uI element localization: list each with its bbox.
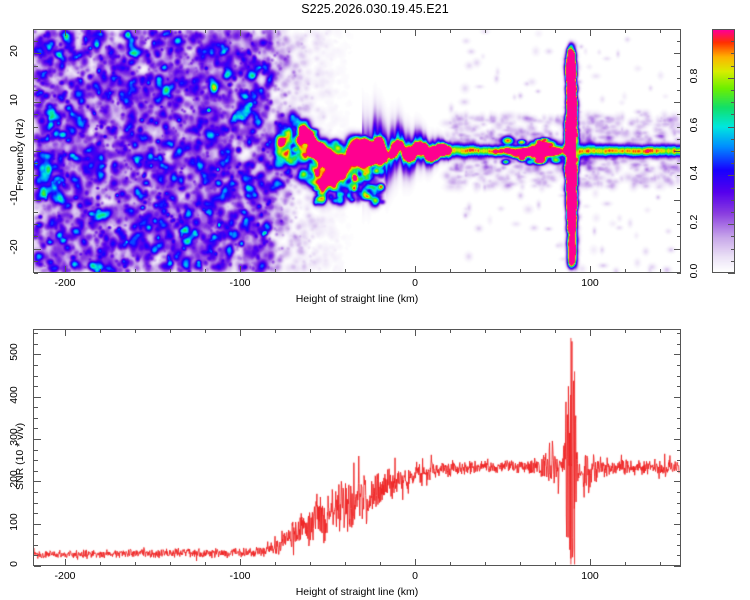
axis-tick [677, 555, 681, 556]
axis-tick [275, 562, 276, 566]
axis-tick [205, 29, 206, 33]
axis-tick [677, 224, 681, 225]
axis-tick [677, 513, 681, 514]
colorbar-tick [728, 175, 735, 176]
axis-tick [677, 376, 681, 377]
axis-tick [677, 212, 681, 213]
axis-tick [677, 471, 681, 472]
axis-tick [34, 78, 38, 79]
axis-tick [205, 329, 206, 333]
axis-tick [34, 175, 38, 176]
axis-tick [677, 236, 681, 237]
axis-tick [625, 329, 626, 333]
axis-tick [555, 329, 556, 333]
colorbar-tick [731, 151, 735, 152]
axis-tick [275, 29, 276, 33]
axis-tick [485, 562, 486, 566]
axis-tick [677, 114, 681, 115]
axis-tick [520, 29, 521, 33]
axis-tick [34, 212, 38, 213]
axis-tick [677, 273, 681, 274]
axis-tick [34, 127, 38, 128]
axis-tick [677, 175, 681, 176]
axis-tick [485, 269, 486, 273]
x-tick-label: 100 [576, 277, 604, 289]
axis-tick [170, 269, 171, 273]
axis-tick [450, 329, 451, 333]
page-title: S225.2026.030.19.45.E21 [0, 2, 750, 16]
axis-tick [34, 66, 38, 67]
colorbar-tick [731, 200, 735, 201]
axis-tick [415, 329, 416, 336]
x-tick-label: -100 [226, 570, 254, 582]
axis-tick [240, 329, 241, 336]
axis-tick [34, 524, 41, 525]
axis-tick [34, 41, 38, 42]
axis-tick [135, 329, 136, 333]
axis-tick [677, 127, 681, 128]
axis-tick [65, 559, 66, 566]
axis-tick [34, 450, 38, 451]
x-tick-label: 100 [576, 570, 604, 582]
axis-tick [34, 503, 38, 504]
snr-x-axis-label: Height of straight line (km) [287, 586, 427, 598]
axis-tick [380, 562, 381, 566]
axis-tick [450, 29, 451, 33]
axis-tick [34, 333, 38, 334]
axis-tick [100, 29, 101, 33]
axis-tick [674, 53, 681, 54]
axis-tick [34, 365, 38, 366]
axis-tick [34, 397, 41, 398]
axis-tick [677, 66, 681, 67]
x-tick-label: -200 [51, 570, 79, 582]
axis-tick [674, 566, 681, 567]
axis-tick [677, 344, 681, 345]
colorbar-tick [728, 224, 735, 225]
axis-tick [660, 29, 661, 33]
axis-tick [34, 460, 38, 461]
axis-tick [170, 29, 171, 33]
axis-tick [34, 555, 38, 556]
axis-tick [590, 266, 591, 273]
axis-tick [660, 562, 661, 566]
axis-tick [34, 261, 38, 262]
snr-y-axis-label: SNR (10 * v/v) [14, 422, 26, 489]
axis-tick [677, 41, 681, 42]
colorbar-tick [731, 53, 735, 54]
axis-tick [677, 386, 681, 387]
spectrogram-x-axis-label: Height of straight line (km) [287, 293, 427, 305]
colorbar-tick-label: 0.0 [688, 257, 700, 285]
colorbar-tick-label: 0.2 [688, 208, 700, 236]
axis-tick [677, 188, 681, 189]
axis-tick [34, 545, 38, 546]
colorbar-tick [731, 261, 735, 262]
axis-tick [135, 29, 136, 33]
axis-tick [345, 329, 346, 333]
axis-tick [415, 29, 416, 36]
axis-tick [100, 562, 101, 566]
axis-tick [590, 559, 591, 566]
colorbar-tick-label: 0.6 [688, 111, 700, 139]
colorbar-tick [728, 78, 735, 79]
figure-root: S225.2026.030.19.45.E21 -200-1000100-20-… [0, 0, 750, 600]
axis-tick [310, 269, 311, 273]
axis-tick [380, 269, 381, 273]
axis-tick [520, 269, 521, 273]
axis-tick [674, 397, 681, 398]
axis-tick [485, 329, 486, 333]
colorbar-tick [731, 163, 735, 164]
axis-tick [520, 562, 521, 566]
axis-tick [170, 329, 171, 333]
axis-tick [450, 562, 451, 566]
colorbar-tick [731, 139, 735, 140]
axis-tick [677, 261, 681, 262]
y-tick-label: 500 [8, 337, 20, 367]
axis-tick [660, 269, 661, 273]
colorbar-tick [731, 212, 735, 213]
axis-tick [275, 329, 276, 333]
axis-tick [34, 249, 41, 250]
axis-tick [625, 269, 626, 273]
axis-tick [34, 566, 41, 567]
axis-tick [677, 365, 681, 366]
axis-tick [34, 188, 38, 189]
axis-tick [34, 418, 38, 419]
axis-tick [310, 29, 311, 33]
colorbar-tick [731, 102, 735, 103]
axis-tick [34, 534, 38, 535]
axis-tick [170, 562, 171, 566]
axis-tick [34, 439, 41, 440]
axis-tick [34, 236, 38, 237]
axis-tick [674, 524, 681, 525]
y-tick-label: 100 [8, 507, 20, 537]
axis-tick [677, 333, 681, 334]
y-tick-label: 0 [8, 549, 20, 579]
axis-tick [34, 102, 41, 103]
x-tick-label: 0 [401, 277, 429, 289]
axis-tick [34, 428, 38, 429]
axis-tick [34, 53, 41, 54]
axis-tick [677, 492, 681, 493]
y-tick-label: -20 [8, 232, 20, 262]
axis-tick [677, 460, 681, 461]
axis-tick [34, 513, 38, 514]
axis-tick [135, 269, 136, 273]
colorbar-tick [731, 188, 735, 189]
colorbar-tick-label: 0.4 [688, 159, 700, 187]
x-tick-label: -200 [51, 277, 79, 289]
axis-tick [34, 344, 38, 345]
axis-tick [34, 90, 38, 91]
y-tick-label: 10 [8, 85, 20, 115]
axis-tick [34, 481, 41, 482]
axis-tick [310, 562, 311, 566]
axis-tick [674, 249, 681, 250]
axis-tick [555, 269, 556, 273]
axis-tick [310, 329, 311, 333]
axis-tick [674, 151, 681, 152]
axis-tick [34, 139, 38, 140]
spectrogram-canvas [34, 30, 680, 272]
axis-tick [625, 562, 626, 566]
axis-tick [34, 407, 38, 408]
axis-tick [345, 29, 346, 33]
axis-tick [677, 534, 681, 535]
axis-tick [625, 29, 626, 33]
axis-tick [34, 114, 38, 115]
axis-tick [674, 200, 681, 201]
axis-tick [674, 439, 681, 440]
axis-tick [34, 376, 38, 377]
axis-tick [34, 273, 38, 274]
colorbar-tick [731, 90, 735, 91]
colorbar-tick [728, 127, 735, 128]
snr-plot-frame [33, 329, 681, 566]
axis-tick [485, 29, 486, 33]
axis-tick [34, 354, 41, 355]
axis-tick [677, 450, 681, 451]
axis-tick [660, 329, 661, 333]
axis-tick [65, 266, 66, 273]
axis-tick [205, 562, 206, 566]
axis-tick [677, 428, 681, 429]
axis-tick [240, 559, 241, 566]
axis-tick [34, 151, 41, 152]
axis-tick [555, 562, 556, 566]
colorbar-tick [731, 66, 735, 67]
colorbar-tick [731, 114, 735, 115]
axis-tick [34, 29, 38, 30]
colorbar-tick [731, 41, 735, 42]
axis-tick [677, 503, 681, 504]
axis-tick [415, 266, 416, 273]
axis-tick [100, 329, 101, 333]
axis-tick [34, 386, 38, 387]
axis-tick [590, 29, 591, 36]
axis-tick [135, 562, 136, 566]
axis-tick [205, 269, 206, 273]
axis-tick [34, 471, 38, 472]
colorbar-tick [731, 29, 735, 30]
snr-canvas [34, 330, 680, 565]
axis-tick [677, 418, 681, 419]
axis-tick [677, 407, 681, 408]
axis-tick [677, 139, 681, 140]
axis-tick [674, 354, 681, 355]
axis-tick [415, 559, 416, 566]
colorbar-tick-label: 0.8 [688, 62, 700, 90]
x-tick-label: 0 [401, 570, 429, 582]
axis-tick [590, 329, 591, 336]
y-tick-label: 400 [8, 380, 20, 410]
axis-tick [674, 481, 681, 482]
axis-tick [345, 562, 346, 566]
axis-tick [450, 269, 451, 273]
spectrogram-y-axis-label: Frequency (Hz) [14, 119, 26, 191]
axis-tick [100, 269, 101, 273]
colorbar-tick [731, 249, 735, 250]
axis-tick [345, 269, 346, 273]
spectrogram-plot-frame [33, 29, 681, 273]
axis-tick [677, 29, 681, 30]
axis-tick [380, 329, 381, 333]
axis-tick [34, 224, 38, 225]
axis-tick [65, 29, 66, 36]
x-tick-label: -100 [226, 277, 254, 289]
axis-tick [677, 78, 681, 79]
axis-tick [677, 163, 681, 164]
axis-tick [555, 29, 556, 33]
axis-tick [380, 29, 381, 33]
axis-tick [240, 266, 241, 273]
axis-tick [677, 90, 681, 91]
axis-tick [240, 29, 241, 36]
axis-tick [34, 492, 38, 493]
axis-tick [677, 545, 681, 546]
colorbar-tick [731, 236, 735, 237]
axis-tick [34, 163, 38, 164]
y-tick-label: 20 [8, 36, 20, 66]
axis-tick [674, 102, 681, 103]
axis-tick [275, 269, 276, 273]
axis-tick [34, 200, 41, 201]
axis-tick [65, 329, 66, 336]
colorbar-tick [728, 273, 735, 274]
axis-tick [520, 329, 521, 333]
